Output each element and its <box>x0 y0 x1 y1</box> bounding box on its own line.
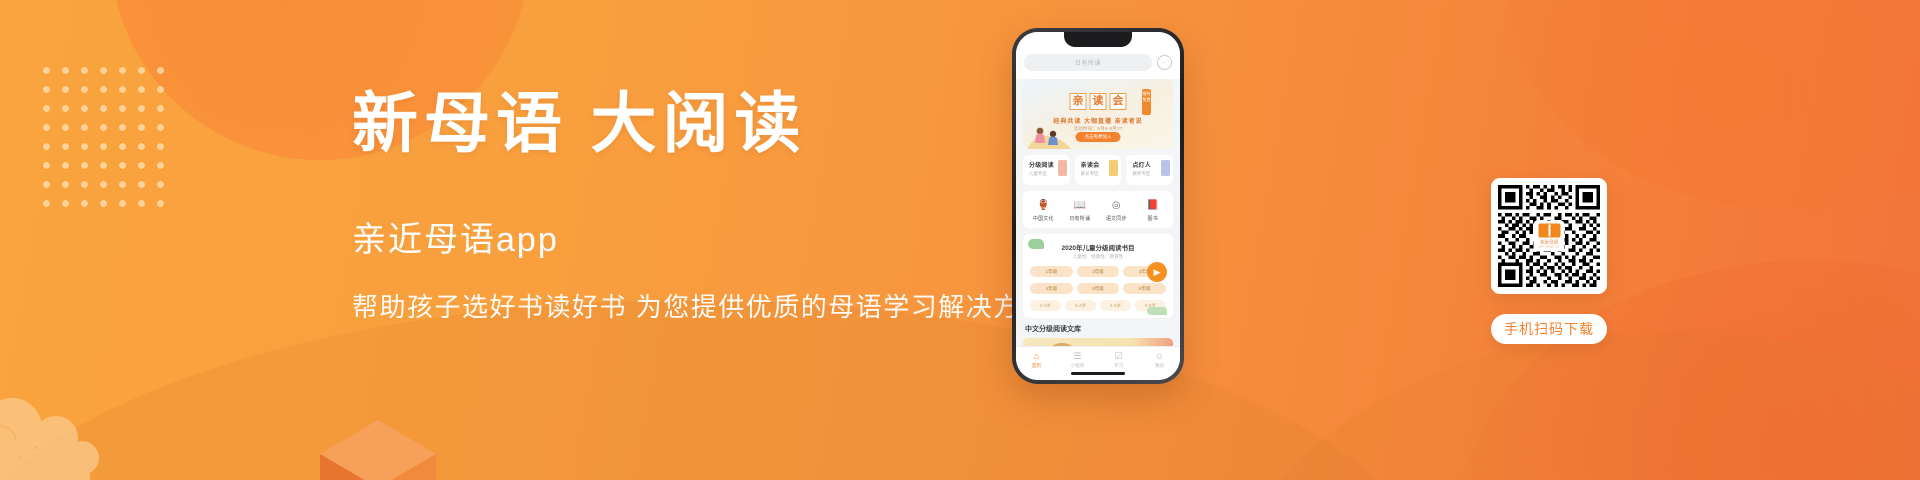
hero-title-char: 读 <box>1090 93 1107 110</box>
list-icon: ☰ <box>1057 351 1098 362</box>
category-card-graded-reading[interactable]: 分级阅读 儿童专区 <box>1023 155 1070 185</box>
book-list-title: 2020年儿童分级阅读书目 <box>1030 242 1166 252</box>
age-chip[interactable]: 0-3岁 <box>1030 300 1061 311</box>
hero-title: 亲 读 会 <box>1070 93 1127 110</box>
card-badge-icon <box>1161 160 1170 176</box>
tab-study[interactable]: ☑ 学习 <box>1098 351 1139 369</box>
category-card-parent-club[interactable]: 亲读会 家长专区 <box>1075 155 1122 185</box>
book-logo-icon <box>1538 224 1560 238</box>
hero-banner-card[interactable]: 亲 读 会 限时免费 经典共读 大咖直播 亲读者说 活动时间：9月6-9月27 … <box>1023 79 1173 149</box>
tab-miniprogram[interactable]: ☰ 小程序 <box>1057 351 1098 369</box>
quick-link-label: 中国文化 <box>1025 215 1062 222</box>
phone-screen: 日有所诵 ··· 亲 读 会 限时免费 经典共读 大咖直播 亲读者说 <box>1016 32 1180 380</box>
books-icon: 📕 <box>1146 198 1160 212</box>
quick-link-label: 图书 <box>1135 215 1172 222</box>
quick-link-label: 日有所诵 <box>1062 215 1099 222</box>
hero-title-char: 亲 <box>1070 93 1087 110</box>
tab-label: 我的 <box>1139 363 1180 369</box>
grade-chip[interactable]: 4年级 <box>1030 283 1073 294</box>
tab-mine[interactable]: ☺ 我的 <box>1139 351 1180 369</box>
book-list-card[interactable]: 2020年儿童分级阅读书目 儿童性、经典性、教育性 1年级 2年级 3年级 4年… <box>1023 234 1173 318</box>
quick-link-chinese-culture[interactable]: 🏺 中国文化 <box>1025 198 1062 222</box>
qr-logo-subtext: QIN JIN MU YU <box>1539 245 1560 248</box>
home-indicator <box>1071 372 1125 375</box>
card-badge-icon <box>1058 160 1067 176</box>
background-hill-left <box>0 300 1440 480</box>
cube-decoration <box>318 414 438 480</box>
download-button[interactable]: 手机扫码下载 <box>1491 314 1607 344</box>
qr-code-card[interactable]: 亲近母语 QIN JIN MU YU <box>1491 178 1607 294</box>
vase-icon: 🏺 <box>1036 198 1050 212</box>
hero-title-char: 会 <box>1110 93 1127 110</box>
quick-link-daily-recite[interactable]: 📖 日有所诵 <box>1062 198 1099 222</box>
user-icon: ☺ <box>1139 351 1180 362</box>
leaf-icon-bottom-right <box>1147 307 1167 315</box>
sync-icon: ◎ <box>1109 198 1123 212</box>
age-chip-row: 0-3岁 3-4岁 4-5岁 5-6岁 <box>1030 300 1166 311</box>
tab-label: 首页 <box>1016 363 1057 369</box>
message-icon[interactable]: ··· <box>1157 55 1172 70</box>
age-chip[interactable]: 4-5岁 <box>1100 300 1131 311</box>
search-input[interactable]: 日有所诵 <box>1024 54 1152 71</box>
category-cards-row: 分级阅读 儿童专区 亲读会 家长专区 点灯人 教师专区 <box>1023 155 1173 185</box>
leaf-icon-top-left <box>1028 239 1044 249</box>
quick-link-textbook-sync[interactable]: ◎ 语文同步 <box>1098 198 1135 222</box>
app-search-row: 日有所诵 ··· <box>1016 52 1180 79</box>
book-list-subtitle: 儿童性、经典性、教育性 <box>1030 254 1166 260</box>
app-name: 亲近母语app <box>352 212 1052 261</box>
grade-chip[interactable]: 1年级 <box>1030 266 1073 277</box>
quick-link-books[interactable]: 📕 图书 <box>1135 198 1172 222</box>
qr-center-logo: 亲近母语 QIN JIN MU YU <box>1534 221 1565 252</box>
clipboard-icon: ☑ <box>1098 351 1139 362</box>
dot-grid-pattern <box>34 58 174 208</box>
hero-join-button[interactable]: 点击免费加入 <box>1076 132 1121 142</box>
qr-section: 亲近母语 QIN JIN MU YU 手机扫码下载 <box>1491 178 1607 344</box>
background-hill-right <box>1220 330 1920 480</box>
quick-links-row: 🏺 中国文化 📖 日有所诵 ◎ 语文同步 📕 图书 <box>1023 191 1173 228</box>
hero-subtitle: 经典共读 大咖直播 亲读者说 <box>1023 116 1173 125</box>
tagline: 帮助孩子选好书读好书 为您提供优质的母语学习解决方案 <box>352 287 1052 324</box>
card-badge-icon <box>1109 160 1118 176</box>
tab-home[interactable]: ⌂ 首页 <box>1016 351 1057 369</box>
promo-banner: 新母语 大阅读 亲近母语app 帮助孩子选好书读好书 为您提供优质的母语学习解决… <box>0 0 1920 480</box>
grade-chip[interactable]: 2年级 <box>1077 266 1120 277</box>
book-open-icon: 📖 <box>1073 198 1087 212</box>
play-icon[interactable]: ▶ <box>1147 262 1167 282</box>
library-section-title: 中文分级阅读文库 <box>1025 324 1171 334</box>
phone-notch <box>1064 32 1132 47</box>
tab-label: 小程序 <box>1057 363 1098 369</box>
grade-chip-row: 4年级 5年级 6年级 <box>1030 283 1166 294</box>
banner-copy: 新母语 大阅读 亲近母语app 帮助孩子选好书读好书 为您提供优质的母语学习解决… <box>352 86 1052 324</box>
grade-chip[interactable]: 5年级 <box>1077 283 1120 294</box>
tab-label: 学习 <box>1098 363 1139 369</box>
cloud-icon-bottom-left <box>0 380 160 480</box>
category-card-teacher[interactable]: 点灯人 教师专区 <box>1126 155 1173 185</box>
phone-mockup: 日有所诵 ··· 亲 读 会 限时免费 经典共读 大咖直播 亲读者说 <box>1012 28 1184 384</box>
quick-link-label: 语文同步 <box>1098 215 1135 222</box>
grade-chip-row: 1年级 2年级 3年级 <box>1030 266 1166 277</box>
page-title: 新母语 大阅读 <box>352 86 1052 164</box>
home-icon: ⌂ <box>1016 351 1057 362</box>
hero-ribbon-badge: 限时免费 <box>1142 89 1151 115</box>
grade-chip[interactable]: 6年级 <box>1123 283 1166 294</box>
age-chip[interactable]: 3-4岁 <box>1065 300 1096 311</box>
